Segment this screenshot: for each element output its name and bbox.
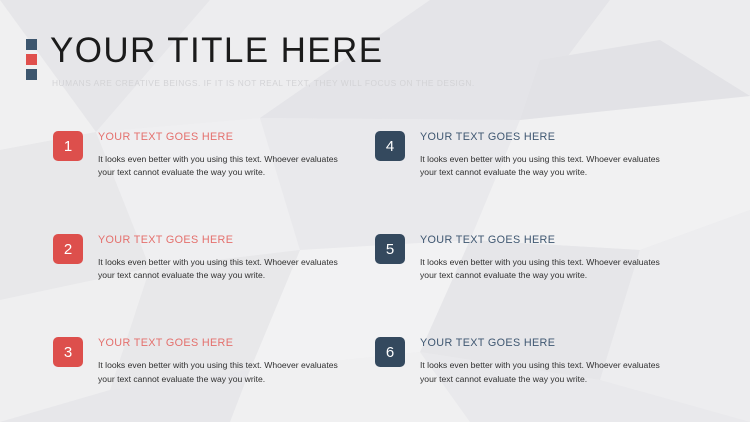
feature-body-5: YOUR TEXT GOES HERE It looks even better… (420, 234, 672, 283)
mark-square-navy-top-icon (26, 39, 37, 50)
feature-item-6[interactable]: 6 YOUR TEXT GOES HERE It looks even bett… (375, 337, 672, 386)
slide-canvas: YOUR TITLE HERE HUMANS ARE CREATIVE BEIN… (0, 0, 750, 422)
feature-text-4: It looks even better with you using this… (420, 153, 672, 180)
feature-body-2: YOUR TEXT GOES HERE It looks even better… (98, 234, 350, 283)
feature-body-3: YOUR TEXT GOES HERE It looks even better… (98, 337, 350, 386)
feature-text-6: It looks even better with you using this… (420, 359, 672, 386)
page-subtitle: HUMANS ARE CREATIVE BEINGS. IF IT IS NOT… (52, 78, 475, 88)
slide-header: YOUR TITLE HERE HUMANS ARE CREATIVE BEIN… (26, 33, 475, 88)
feature-item-1[interactable]: 1 YOUR TEXT GOES HERE It looks even bett… (53, 131, 350, 180)
feature-grid: 1 YOUR TEXT GOES HERE It looks even bett… (53, 131, 698, 386)
feature-text-3: It looks even better with you using this… (98, 359, 350, 386)
feature-title-3: YOUR TEXT GOES HERE (98, 338, 350, 350)
feature-title-1: YOUR TEXT GOES HERE (98, 132, 350, 144)
feature-text-1: It looks even better with you using this… (98, 153, 350, 180)
feature-number-badge-6: 6 (375, 337, 405, 367)
feature-number-badge-1: 1 (53, 131, 83, 161)
page-title: YOUR TITLE HERE (50, 33, 475, 68)
feature-body-6: YOUR TEXT GOES HERE It looks even better… (420, 337, 672, 386)
feature-item-3[interactable]: 3 YOUR TEXT GOES HERE It looks even bett… (53, 337, 350, 386)
title-block: YOUR TITLE HERE HUMANS ARE CREATIVE BEIN… (50, 33, 475, 88)
feature-text-2: It looks even better with you using this… (98, 256, 350, 283)
feature-body-4: YOUR TEXT GOES HERE It looks even better… (420, 131, 672, 180)
feature-number-badge-3: 3 (53, 337, 83, 367)
feature-item-4[interactable]: 4 YOUR TEXT GOES HERE It looks even bett… (375, 131, 672, 180)
feature-item-5[interactable]: 5 YOUR TEXT GOES HERE It looks even bett… (375, 234, 672, 283)
feature-title-5: YOUR TEXT GOES HERE (420, 235, 672, 247)
feature-title-2: YOUR TEXT GOES HERE (98, 235, 350, 247)
feature-item-2[interactable]: 2 YOUR TEXT GOES HERE It looks even bett… (53, 234, 350, 283)
title-marks (26, 33, 37, 80)
feature-text-5: It looks even better with you using this… (420, 256, 672, 283)
feature-number-badge-4: 4 (375, 131, 405, 161)
feature-number-badge-5: 5 (375, 234, 405, 264)
feature-title-4: YOUR TEXT GOES HERE (420, 132, 672, 144)
feature-number-badge-2: 2 (53, 234, 83, 264)
feature-body-1: YOUR TEXT GOES HERE It looks even better… (98, 131, 350, 180)
mark-square-navy-bottom-icon (26, 69, 37, 80)
mark-square-red-icon (26, 54, 37, 65)
feature-title-6: YOUR TEXT GOES HERE (420, 338, 672, 350)
